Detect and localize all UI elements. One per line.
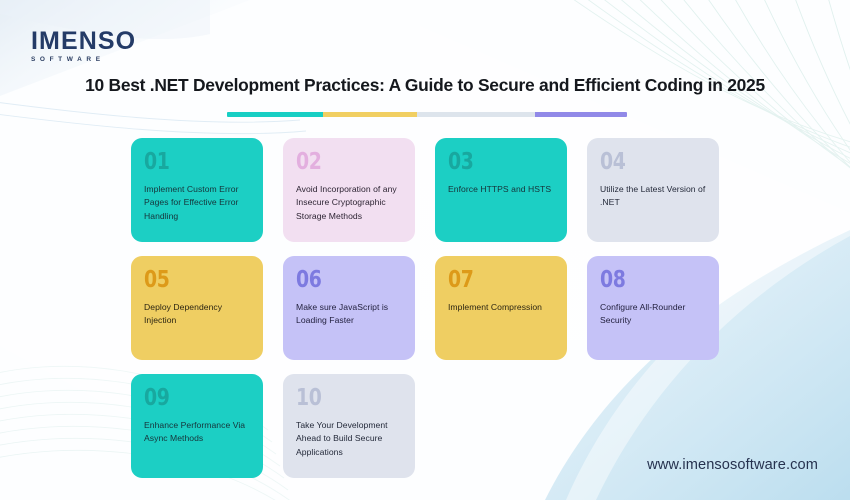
practice-card-03[interactable]: 03Enforce HTTPS and HSTS: [435, 138, 567, 242]
practice-card-08[interactable]: 08Configure All-Rounder Security: [587, 256, 719, 360]
practice-card-text: Enforce HTTPS and HSTS: [448, 183, 555, 196]
practice-card-number: 06: [296, 269, 384, 292]
practice-card-01[interactable]: 01Implement Custom Error Pages for Effec…: [131, 138, 263, 242]
practice-card-text: Implement Custom Error Pages for Effecti…: [144, 183, 251, 223]
divider-segment-pale-blue-grey: [417, 112, 535, 117]
practice-card-09[interactable]: 09Enhance Performance Via Async Methods: [131, 374, 263, 478]
practice-card-05[interactable]: 05Deploy Dependency Injection: [131, 256, 263, 360]
title-divider-bar: [227, 112, 627, 117]
brand-logo: IMENSO SOFTWARE: [31, 29, 201, 64]
divider-segment-purple: [535, 112, 627, 117]
practice-card-text: Deploy Dependency Injection: [144, 301, 251, 328]
practice-card-number: 05: [144, 269, 232, 292]
practice-card-10[interactable]: 10Take Your Development Ahead to Build S…: [283, 374, 415, 478]
divider-segment-yellow: [323, 112, 417, 117]
practice-card-07[interactable]: 07Implement Compression: [435, 256, 567, 360]
practice-card-text: Take Your Development Ahead to Build Sec…: [296, 419, 403, 459]
divider-segment-teal: [227, 112, 323, 117]
practice-card-text: Avoid Incorporation of any Insecure Cryp…: [296, 183, 403, 223]
practice-card-text: Configure All-Rounder Security: [600, 301, 707, 328]
practice-card-number: 07: [448, 269, 536, 292]
practice-card-text: Utilize the Latest Version of .NET: [600, 183, 707, 210]
practice-card-text: Implement Compression: [448, 301, 555, 314]
practice-card-04[interactable]: 04Utilize the Latest Version of .NET: [587, 138, 719, 242]
practice-card-number: 02: [296, 151, 384, 174]
practice-card-text: Enhance Performance Via Async Methods: [144, 419, 251, 446]
infographic-poster: IMENSO SOFTWARE 10 Best .NET Development…: [0, 0, 850, 500]
website-url[interactable]: www.imensosoftware.com: [647, 457, 818, 473]
practice-card-number: 04: [600, 151, 688, 174]
logo-tagline: SOFTWARE: [31, 57, 201, 64]
page-title: 10 Best .NET Development Practices: A Gu…: [0, 75, 850, 96]
logo-wordmark: IMENSO: [31, 29, 201, 54]
practice-card-02[interactable]: 02Avoid Incorporation of any Insecure Cr…: [283, 138, 415, 242]
practice-card-number: 09: [144, 387, 232, 410]
practice-card-number: 01: [144, 151, 232, 174]
practice-card-text: Make sure JavaScript is Loading Faster: [296, 301, 403, 328]
practices-grid: 01Implement Custom Error Pages for Effec…: [131, 138, 719, 478]
practice-card-number: 10: [296, 387, 384, 410]
practice-card-number: 03: [448, 151, 536, 174]
practice-card-06[interactable]: 06Make sure JavaScript is Loading Faster: [283, 256, 415, 360]
practice-card-number: 08: [600, 269, 688, 292]
